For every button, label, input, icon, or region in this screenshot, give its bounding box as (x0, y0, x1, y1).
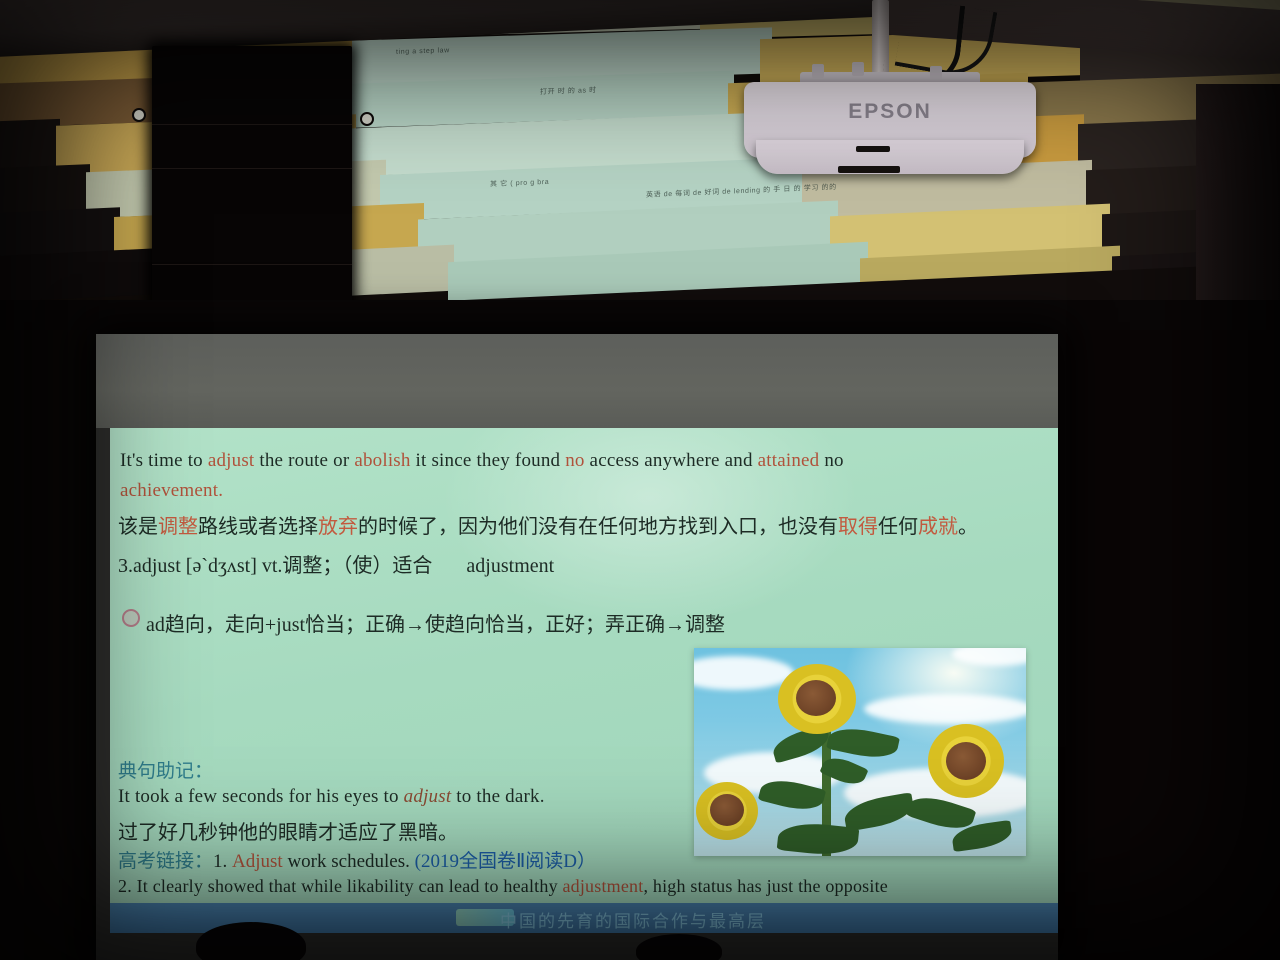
highlight-qude: 取得 (838, 516, 878, 538)
sunflower-bloom (696, 782, 758, 840)
text-run: 路线或者选择 (198, 516, 318, 538)
highlight-abolish: abolish (354, 450, 410, 471)
cloud (864, 694, 1026, 724)
entry-phonetic: [ə`dʒʌst] (181, 555, 262, 577)
text-run: 2. It clearly showed that while likabili… (118, 876, 562, 896)
text-run: work schedules. (283, 851, 415, 872)
text-run: It's time to (120, 450, 208, 471)
slide-example-translation: 过了好几秒钟他的眼睛才适应了黑暗。 (118, 816, 458, 845)
sunflower-bloom (928, 724, 1004, 798)
speaker-bracket-left (132, 108, 146, 122)
entry-number: 3. (118, 555, 133, 577)
text-run: 该是 (118, 516, 158, 538)
projector-adjust-knob (852, 62, 864, 76)
highlight-chengjiu: 成就 (918, 516, 958, 538)
student-head-silhouette (636, 934, 722, 960)
wall-left (0, 330, 98, 960)
wall-edge (1196, 84, 1280, 330)
text-run: to the dark. (451, 786, 544, 807)
entry-definition: 调整；（使）适合 (282, 555, 432, 577)
slide-etymology: ad趋向，走向+just恰当；正确→使趋向恰当，正好；弄正确→调整 (146, 608, 725, 637)
slide-line-2: achievement. (120, 480, 223, 502)
footer-text: 中国的先育的国际合作与最高层 (500, 907, 766, 932)
highlight-tiaozheng: 调整 (158, 516, 198, 538)
gaokao-citation-1: (2019全国卷Ⅱ阅读D） (415, 851, 596, 872)
slide-line-1: It's time to adjust the route or abolish… (120, 450, 844, 472)
slide-gaokao-item-2: 2. It clearly showed that while likabili… (118, 876, 888, 897)
gaokao-label: 高考链接： (118, 851, 213, 872)
text-run: , high status has just the opposite (643, 876, 888, 896)
projector-vent (838, 166, 900, 173)
slide-line-3-translation: 该是调整路线或者选择放弃的时候了，因为他们没有在任何地方找到入口，也没有取得任何… (118, 510, 978, 539)
text-run: access anywhere and (585, 450, 758, 471)
highlight-adjust: adjust (208, 450, 255, 471)
slide-gaokao-link: 高考链接：1. Adjust work schedules. (2019全国卷Ⅱ… (118, 846, 596, 873)
text-run: it since they found (411, 450, 566, 471)
text-run: 的时候了，因为他们没有在任何地方找到入口，也没有 (358, 516, 838, 538)
projector-adjust-knob (812, 64, 824, 78)
highlight-adjustment: adjustment (562, 876, 643, 896)
sunflowers-photo (694, 648, 1026, 856)
text-run: 。 (958, 516, 978, 538)
wall-right (1056, 330, 1280, 960)
highlight-adjust-italic: adjust (404, 786, 452, 807)
highlight-Adjust: Adjust (232, 851, 283, 872)
text-run: 任何 (878, 516, 918, 538)
ceiling-panel-text: 打开 时 的 as 时 (540, 85, 597, 97)
text-run: no (819, 450, 843, 471)
projector-brand-label: EPSON (744, 100, 1036, 124)
classroom-photo: Japanese mean reacted decrease of C ting… (0, 0, 1280, 960)
entry-headword: adjust (133, 555, 181, 577)
speaker-bracket-right (360, 112, 374, 126)
slide-example-header: 典句助记： (118, 756, 213, 783)
text-run: the route or (254, 450, 354, 471)
entry-derived-form: adjustment (466, 555, 554, 577)
projector-adjust-knob (930, 66, 942, 80)
highlight-no: no (565, 450, 584, 471)
highlight-attained: attained (758, 450, 820, 471)
text-run: It took a few seconds for his eyes to (118, 786, 404, 807)
slide-example-sentence: It took a few seconds for his eyes to ad… (118, 786, 545, 808)
highlight-fangqi: 放弃 (318, 516, 358, 538)
text-run: 1. (213, 851, 232, 872)
projector-vent (856, 146, 890, 152)
sunflower-bloom (778, 664, 856, 734)
projected-slide: It's time to adjust the route or abolish… (110, 428, 1058, 933)
flower-bullet-icon (122, 609, 140, 627)
slide-entry-adjust: 3.adjust [ə`dʒʌst] vt.调整；（使）适合adjustment (118, 549, 554, 578)
entry-pos: vt. (262, 555, 283, 577)
screen-blank-area (96, 334, 1058, 428)
ceiling-speaker (152, 46, 352, 330)
ceiling: Japanese mean reacted decrease of C ting… (0, 0, 1280, 330)
